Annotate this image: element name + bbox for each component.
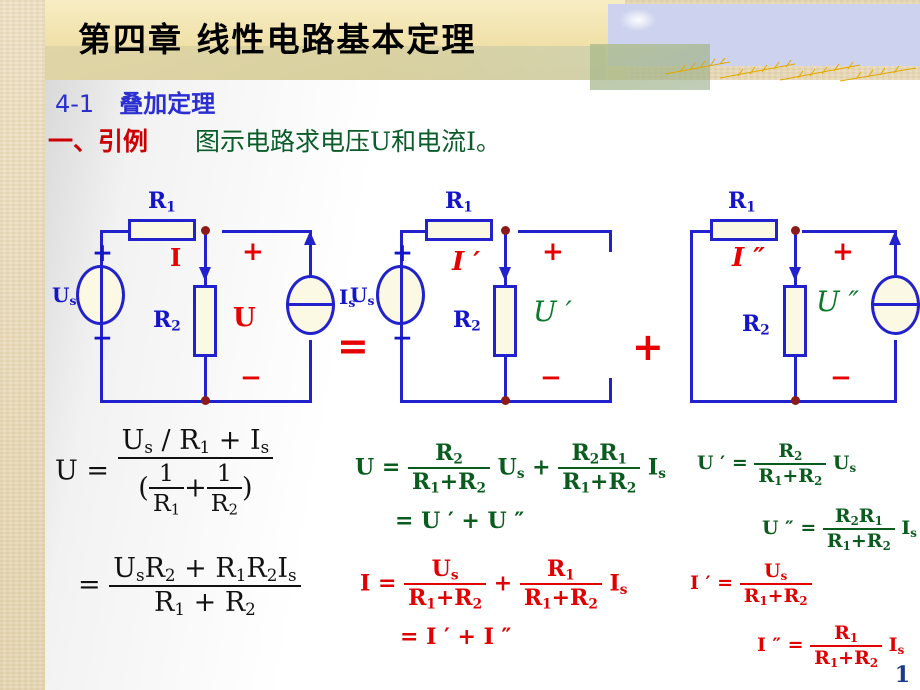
label-i-prime: I ′ (452, 247, 480, 277)
fraction-denominator: R1 + R2 (109, 585, 300, 619)
formula-op: + (532, 454, 550, 480)
resistor-r2 (193, 285, 217, 357)
wire (802, 230, 897, 233)
formula-i-superposition: I = Us R1+R2 + R1 R1+R2 Is (360, 556, 627, 613)
minus-sign-source: − (392, 323, 413, 352)
circuit-voltage-source-only: R1 R2 Us + − I ′ + − U ′ (390, 185, 630, 405)
current-arrow-i-dprime-icon (786, 247, 804, 287)
wire-short-circuit (690, 230, 693, 403)
current-arrow-is-icon (301, 231, 319, 277)
formula-fraction: R1 R1+R2 (810, 622, 882, 670)
node-dot (501, 396, 510, 405)
formula-i-double-prime: I ″ = R1 R1+R2 Is (757, 622, 904, 670)
label-i: I (170, 243, 181, 272)
node-dot (201, 396, 210, 405)
current-arrow-i-prime-icon (496, 247, 514, 287)
formula-fraction: R2 R1+R2 (754, 440, 826, 488)
minus-sign-u-dprime: − (830, 363, 852, 393)
circuit-original: R1 R2 Us + − Is I + − U (90, 185, 330, 405)
formula-fraction-1: R2 R1+R2 (408, 440, 490, 497)
label-r2: R2 (453, 307, 481, 334)
resistor-r2 (493, 285, 517, 357)
formula-eq: = (78, 570, 101, 601)
formula-u-superposition: U = R2 R1+R2 Us + R2R1 R1+R2 Is (355, 440, 666, 497)
page-number: 1 (895, 662, 910, 688)
wire (518, 230, 612, 233)
page-title: 第四章 线性电路基本定理 (78, 14, 598, 70)
formula-i-sum: = I ′ + I ″ (400, 624, 511, 650)
fraction-denominator: (1R1+1R2) (118, 457, 274, 519)
label-us: Us (350, 283, 374, 308)
resistor-r1 (710, 219, 778, 241)
open-stub-top (609, 230, 612, 252)
formula-u-prime: U ′ = R2 R1+R2 Us (697, 440, 856, 488)
decorative-header-art (590, 0, 920, 92)
formula-i-prime: I ′ = Us R1+R2 (690, 560, 812, 608)
resistor-r1 (128, 219, 196, 241)
fraction-numerator: UsR2 + R1R2Is (109, 553, 300, 585)
wire (309, 340, 312, 403)
node-dot (791, 226, 800, 235)
label-u-prime: U ′ (533, 295, 572, 328)
formula-fraction: Us R1+R2 (740, 560, 812, 608)
resistor-r1 (425, 219, 493, 241)
formula-fraction: UsR2 + R1R2Is R1 + R2 (109, 553, 300, 619)
formula-u-left-simplified: = UsR2 + R1R2Is R1 + R2 (78, 553, 301, 619)
formula-fraction-2: R2R1 R1+R2 (558, 440, 640, 497)
source-bar (100, 265, 103, 325)
source-bar (871, 303, 920, 306)
formula-fraction: R2R1 R1+R2 (823, 505, 895, 553)
wire (894, 340, 897, 403)
section-heading: 4-1 叠加定理 (55, 84, 215, 119)
source-bar (400, 265, 403, 325)
label-r1: R1 (445, 188, 473, 215)
formula-u-left: U = Us / R1 + Is (1R1+1R2) (55, 425, 273, 519)
source-bar (286, 303, 335, 306)
formula-eq: = (86, 455, 109, 486)
formula-lhs: U (355, 454, 374, 480)
slide-canvas: 第四章 线性电路基本定理 4-1 叠加定理 一、引例 图示电路求电压U和电流I。 (0, 0, 920, 690)
formula-lhs: U ″ (762, 517, 794, 539)
formula-eq: = (378, 570, 396, 596)
formula-fraction-1: Us R1+R2 (404, 556, 486, 613)
label-r2: R2 (742, 311, 770, 338)
open-stub-bottom (609, 378, 612, 403)
plus-sign-source: + (392, 238, 413, 267)
formula-u-sum: = U ′ + U ″ (395, 508, 524, 534)
operator-equals: = (337, 324, 369, 368)
formula-eq: = (732, 452, 748, 474)
formula-lhs: I (360, 570, 370, 596)
node-dot (201, 226, 210, 235)
current-arrow-i-icon (196, 247, 214, 287)
node-dot (791, 396, 800, 405)
wheat-icon (660, 48, 920, 84)
wire (222, 230, 312, 233)
node-dot (501, 226, 510, 235)
plus-sign-u: + (242, 237, 264, 267)
label-r1: R1 (148, 188, 176, 215)
formula-lhs: I ″ (757, 634, 781, 656)
plus-sign-source: + (92, 238, 113, 267)
plus-sign-u-dprime: + (832, 237, 854, 267)
formula-u-double-prime: U ″ = R2R1 R1+R2 Is (762, 505, 917, 553)
topic-label: 一、引例 (48, 122, 148, 158)
operator-plus: + (632, 325, 664, 369)
formula-lhs: U ′ (697, 452, 725, 474)
formula-fraction: Us / R1 + Is (1R1+1R2) (118, 425, 274, 519)
circuit-current-source-only: R1 R2 Is I ″ + − U ″ (680, 185, 920, 405)
label-r1: R1 (728, 188, 756, 215)
label-i-double-prime: I ″ (732, 243, 765, 273)
minus-sign-source: − (92, 323, 113, 352)
question-text: 图示电路求电压U和电流I。 (195, 122, 501, 158)
current-arrow-is-icon (886, 231, 904, 277)
formula-lhs: U (55, 455, 78, 486)
section-title: 叠加定理 (119, 90, 215, 118)
minus-sign-u-prime: − (540, 363, 562, 393)
formula-eq: = (800, 517, 816, 539)
minus-sign-u: − (240, 363, 262, 393)
resistor-r2 (783, 285, 807, 357)
formula-fraction-2: R1 R1+R2 (520, 556, 602, 613)
label-u-double-prime: U ″ (816, 285, 859, 318)
formula-op: + (494, 570, 512, 596)
formula-eq: = (382, 454, 400, 480)
formula-lhs: I ′ (690, 572, 711, 594)
section-number: 4-1 (55, 90, 94, 118)
formula-eq: = (717, 572, 733, 594)
plus-sign-u-prime: + (542, 237, 564, 267)
formula-eq: = (788, 634, 804, 656)
label-u: U (233, 303, 256, 333)
label-us: Us (52, 283, 76, 308)
fraction-numerator: Us / R1 + Is (118, 425, 274, 457)
label-r2: R2 (153, 307, 181, 334)
